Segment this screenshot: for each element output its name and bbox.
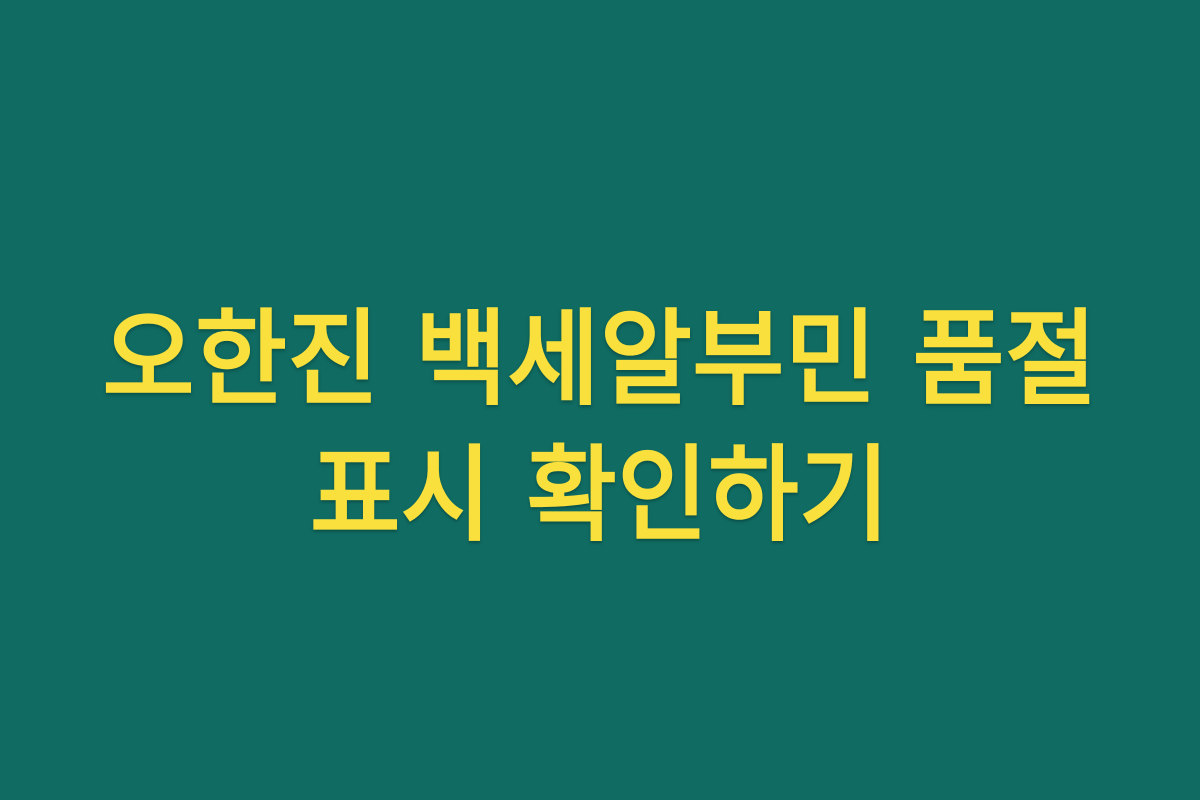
title-line-1: 오한진 백세알부민 품절 bbox=[47, 296, 1154, 422]
title-card: 오한진 백세알부민 품절 표시 확인하기 bbox=[0, 0, 1200, 800]
title-line-2: 표시 확인하기 bbox=[56, 432, 1144, 558]
title-text-block: 오한진 백세알부민 품절 표시 확인하기 bbox=[0, 296, 1200, 558]
